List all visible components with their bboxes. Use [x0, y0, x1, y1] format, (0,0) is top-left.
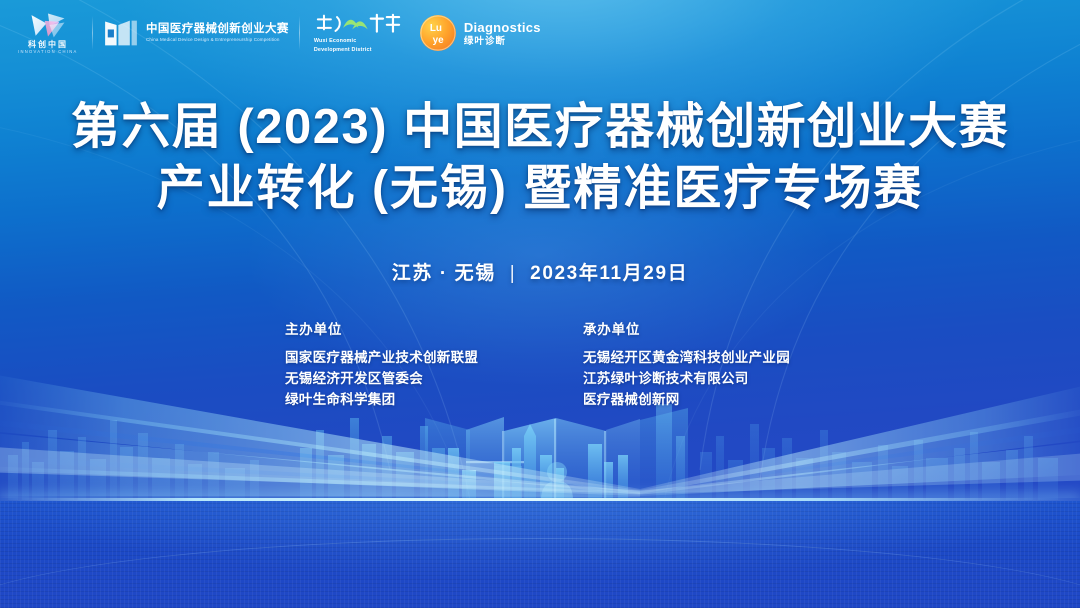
logo-innovation-china[interactable]: 科创中国 INNOVATION CHINA: [14, 11, 82, 55]
event-date-location: 江苏 · 无锡 | 2023年11月29日: [0, 258, 1080, 285]
banner-content: 第六届 (2023) 中国医疗器械创新创业大赛 产业转化 (无锡) 暨精准医疗专…: [0, 0, 1080, 608]
coorganizer-item: 医疗器械创新网: [583, 389, 795, 410]
host-item: 无锡经济开发区管委会: [285, 368, 497, 389]
logo-innovation-china-cn: 科创中国: [28, 40, 68, 49]
coorganizer-item: 江苏绿叶诊断技术有限公司: [583, 368, 795, 389]
host-item: 国家医疗器械产业技术创新联盟: [285, 347, 497, 368]
logo-cmdc-en: China Medical Device Design & Entreprene…: [146, 37, 296, 43]
logo-luye-diagnostics[interactable]: Lu ye Diagnostics 绿叶诊断: [420, 15, 541, 51]
host-column: 主办单位 国家医疗器械产业技术创新联盟 无锡经济开发区管委会 绿叶生命科学集团: [285, 318, 497, 410]
event-title: 第六届 (2023) 中国医疗器械创新创业大赛 产业转化 (无锡) 暨精准医疗专…: [0, 96, 1080, 220]
event-title-line2: 产业转化 (无锡) 暨精准医疗专场赛: [0, 158, 1080, 220]
butterfly-mark: [28, 11, 68, 39]
open-door-icon: [103, 18, 139, 48]
event-location: 江苏 · 无锡: [392, 263, 496, 284]
coorganizer-heading: 承办单位: [583, 318, 795, 338]
logo-luye-cn: 绿叶诊断: [464, 36, 541, 47]
organizer-section: 主办单位 国家医疗器械产业技术创新联盟 无锡经济开发区管委会 绿叶生命科学集团 …: [0, 318, 1080, 410]
logo-wuxi-edd[interactable]: Wuxi Economic Development District: [314, 12, 406, 54]
svg-text:Lu: Lu: [430, 23, 442, 34]
coorganizer-column: 承办单位 无锡经开区黄金湾科技创业产业园 江苏绿叶诊断技术有限公司 医疗器械创新…: [583, 318, 795, 410]
wuxi-calligraphy-icon: [314, 12, 406, 36]
sponsor-logo-bar: 科创中国 INNOVATION CHINA 中国医疗器械创新创业大赛 China…: [0, 0, 1080, 66]
logo-innovation-china-en: INNOVATION CHINA: [18, 50, 77, 56]
host-heading: 主办单位: [285, 318, 497, 338]
logo-luye-en: Diagnostics: [464, 20, 541, 35]
event-banner: 科创中国 INNOVATION CHINA 中国医疗器械创新创业大赛 China…: [0, 0, 1080, 608]
logo-divider-2: [299, 16, 300, 50]
date-separator: |: [503, 263, 524, 285]
coorganizer-item: 无锡经开区黄金湾科技创业产业园: [583, 347, 795, 368]
event-date: 2023年11月29日: [530, 263, 688, 284]
logo-wuxi-en-line1: Wuxi Economic: [314, 38, 357, 45]
luye-circle-icon: Lu ye: [420, 15, 456, 51]
logo-divider-1: [92, 16, 93, 50]
event-title-line1: 第六届 (2023) 中国医疗器械创新创业大赛: [0, 96, 1080, 158]
logo-cmdc[interactable]: 中国医疗器械创新创业大赛 China Medical Device Design…: [103, 18, 289, 48]
svg-text:ye: ye: [432, 35, 443, 46]
logo-cmdc-cn: 中国医疗器械创新创业大赛: [146, 23, 289, 36]
host-item: 绿叶生命科学集团: [285, 389, 497, 410]
logo-wuxi-en-line2: Development District: [314, 47, 372, 54]
